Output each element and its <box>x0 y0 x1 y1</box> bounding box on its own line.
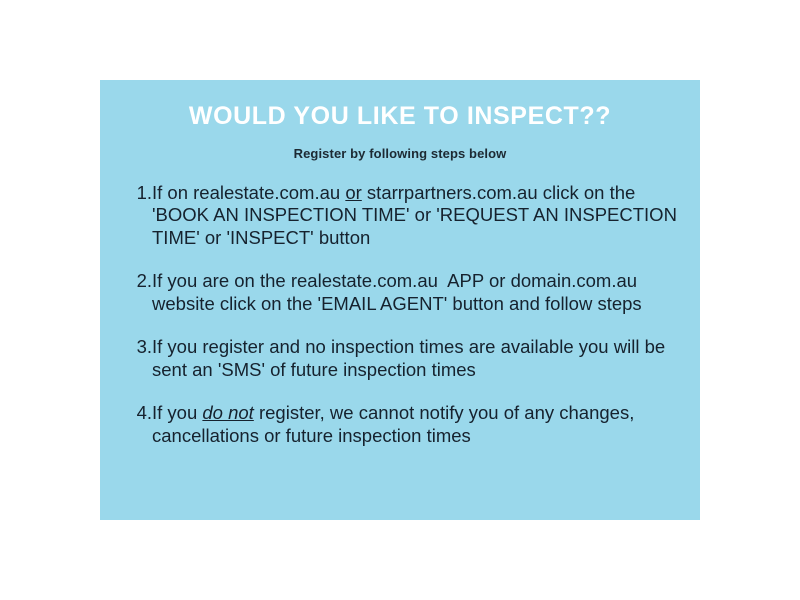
list-item: 2. If you are on the realestate.com.au A… <box>100 270 700 316</box>
inspection-info-panel: WOULD YOU LIKE TO INSPECT?? Register by … <box>100 80 700 520</box>
slide-root: WOULD YOU LIKE TO INSPECT?? Register by … <box>0 0 800 600</box>
panel-subtitle: Register by following steps below <box>100 131 700 161</box>
step-emphasis: do not <box>202 402 253 423</box>
list-item: 1. If on realestate.com.au or starrpartn… <box>100 182 700 251</box>
step-text: If you do not register, we cannot notify… <box>152 402 682 448</box>
step-text: If you are on the realestate.com.au APP … <box>152 270 682 316</box>
step-number: 3. <box>132 336 152 359</box>
step-text: If you register and no inspection times … <box>152 336 682 382</box>
step-text-before: If you <box>152 402 202 423</box>
step-text-before: If you are on the realestate.com.au APP … <box>152 270 642 314</box>
step-text-before: If on realestate.com.au <box>152 182 345 203</box>
step-number: 1. <box>132 182 152 205</box>
step-text: If on realestate.com.au or starrpartners… <box>152 182 682 251</box>
list-item: 4. If you do not register, we cannot not… <box>100 402 700 448</box>
steps-list: 1. If on realestate.com.au or starrpartn… <box>100 161 700 448</box>
page-title: WOULD YOU LIKE TO INSPECT?? <box>100 80 700 131</box>
step-text-before: If you register and no inspection times … <box>152 336 670 380</box>
step-number: 2. <box>132 270 152 293</box>
step-emphasis: or <box>345 182 361 203</box>
list-item: 3. If you register and no inspection tim… <box>100 336 700 382</box>
step-number: 4. <box>132 402 152 425</box>
